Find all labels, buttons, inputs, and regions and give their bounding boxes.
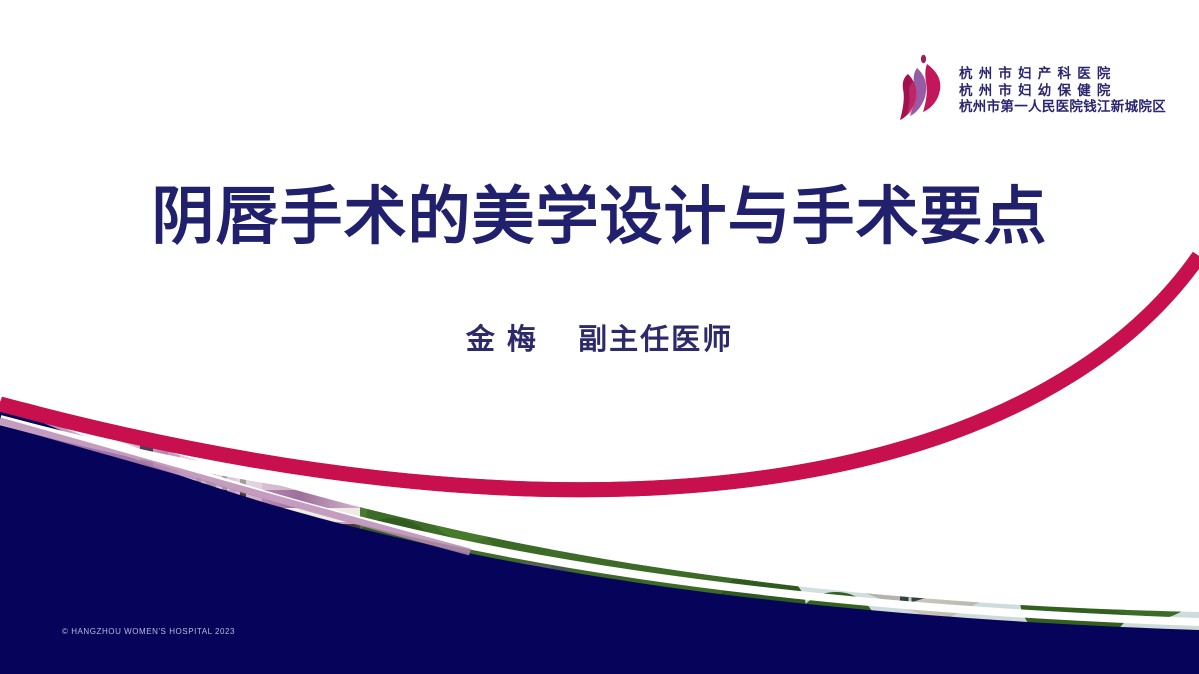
slide-main-title: 阴唇手术的美学设计与手术要点 bbox=[0, 186, 1199, 249]
logo-line-1: 杭州市妇产科医院 bbox=[959, 67, 1166, 82]
hospital-logo: 杭州市妇产科医院 杭州市妇幼保健院 杭州市第一人民医院钱江新城院区 bbox=[893, 52, 1166, 128]
hospital-flame-logo-icon bbox=[893, 52, 949, 128]
hospital-logo-text: 杭州市妇产科医院 杭州市妇幼保健院 杭州市第一人民医院钱江新城院区 bbox=[959, 65, 1166, 115]
logo-line-3: 杭州市第一人民医院钱江新城院区 bbox=[959, 100, 1166, 115]
presentation-title-slide: 杭州市妇产科医院 杭州市妇幼保健院 杭州市第一人民医院钱江新城院区 阴唇手术的美… bbox=[0, 0, 1199, 674]
slide-presenter: 金 梅 副主任医师 bbox=[0, 326, 1199, 355]
logo-line-2: 杭州市妇幼保健院 bbox=[959, 84, 1166, 99]
copyright-notice: © HANGZHOU WOMEN'S HOSPITAL 2023 bbox=[62, 627, 235, 636]
